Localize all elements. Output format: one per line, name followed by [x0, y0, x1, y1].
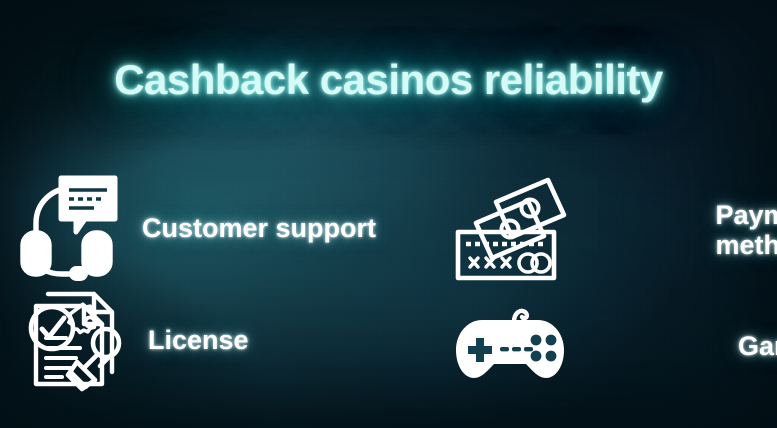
headset-chat-icon [14, 176, 120, 280]
feature-games: Games [452, 306, 777, 386]
feature-license: License [22, 288, 249, 392]
feature-label-games: Games [588, 331, 777, 361]
feature-label-license: License [148, 325, 249, 355]
gamepad-icon [452, 306, 568, 386]
feature-label-customer-support: Customer support [142, 213, 376, 243]
card-banknotes-icon [452, 174, 568, 286]
document-stamp-icon [22, 288, 126, 392]
feature-payment-methods: Payment methods [452, 174, 777, 286]
page-title: Cashback casinos reliability [0, 56, 777, 104]
infographic-canvas: Cashback casinos reliability [0, 0, 777, 428]
feature-label-payment-methods: Payment methods [588, 200, 777, 260]
feature-customer-support: Customer support [14, 176, 376, 280]
